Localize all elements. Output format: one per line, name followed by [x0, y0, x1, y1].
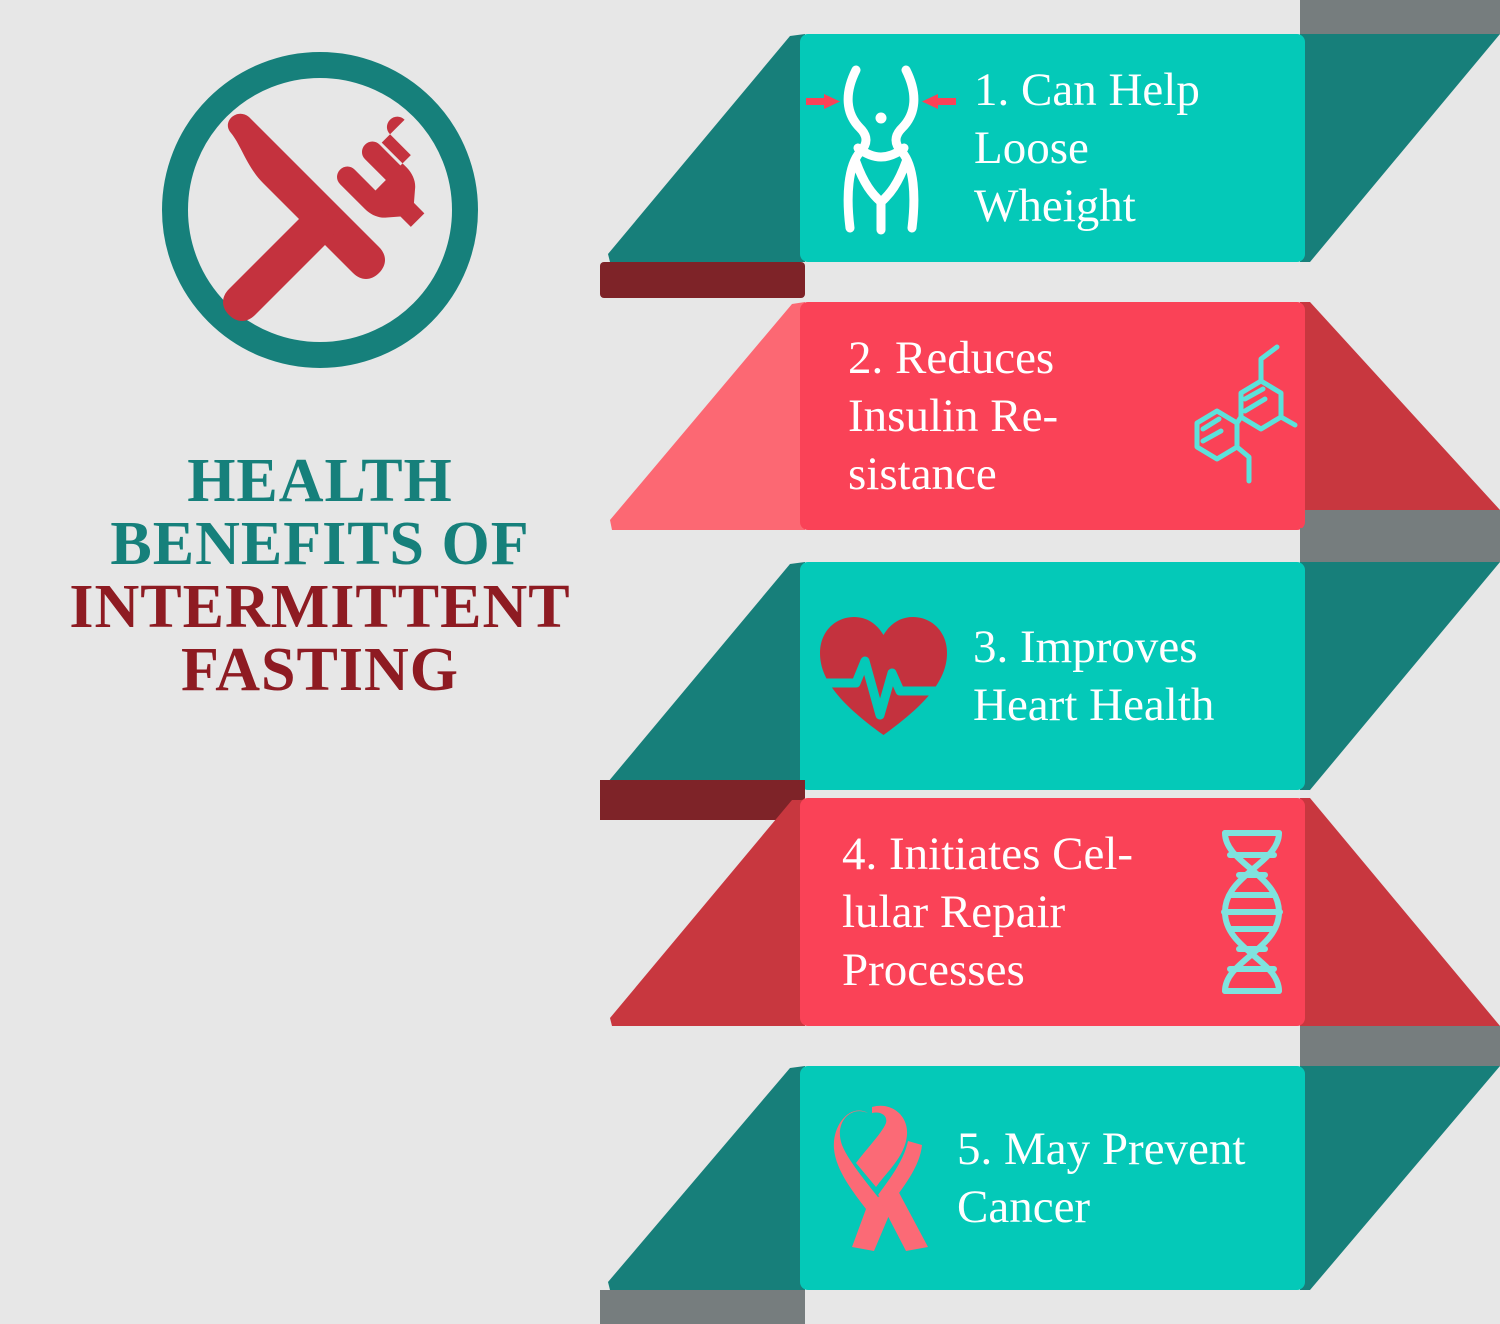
- banner-5[interactable]: 5. May Prevent Cancer: [0, 1040, 1500, 1324]
- gray-tab: [1300, 1040, 1500, 1066]
- banner-5-line-2: Cancer: [957, 1178, 1245, 1236]
- banner-3-content: 3. Improves Heart Health: [800, 562, 1305, 790]
- dna-helix-icon: [1207, 827, 1297, 997]
- banner-4[interactable]: 4. Initiates Cel- lular Repair Processes: [0, 780, 1500, 1080]
- right-wing: [1300, 1066, 1500, 1290]
- molecule-structure-icon: [1179, 341, 1299, 491]
- arrow-right-icon: [806, 94, 840, 109]
- banner-1-line-2: Loose: [974, 119, 1200, 177]
- banner-2-text: 2. Reduces Insulin Re- sistance: [848, 329, 1179, 503]
- left-wing: [610, 798, 805, 1026]
- banner-1-text: 1. Can Help Loose Wheight: [974, 61, 1200, 235]
- arrow-left-icon: [922, 94, 956, 109]
- shadow-tab: [600, 780, 805, 800]
- banner-1-line-1: 1. Can Help: [974, 61, 1200, 119]
- banner-3-line-1: 3. Improves: [973, 618, 1214, 676]
- awareness-ribbon-icon: [820, 1101, 945, 1256]
- infographic-canvas: HEALTH BENEFITS OF INTERMITTENT FASTING: [0, 0, 1500, 1324]
- left-wing: [608, 1066, 805, 1290]
- banner-4-line-2: lular Repair: [842, 883, 1207, 941]
- banner-2-line-1: 2. Reduces: [848, 329, 1179, 387]
- right-wing: [1300, 562, 1500, 790]
- banner-2-line-3: sistance: [848, 445, 1179, 503]
- banner-3-line-2: Heart Health: [973, 676, 1214, 734]
- banner-4-text: 4. Initiates Cel- lular Repair Processes: [842, 825, 1207, 999]
- gray-tab-bottom: [600, 1290, 805, 1324]
- banner-2[interactable]: 2. Reduces Insulin Re- sistance: [0, 262, 1500, 562]
- right-wing: [1300, 34, 1500, 262]
- left-wing: [608, 34, 805, 262]
- banner-1[interactable]: 1. Can Help Loose Wheight: [0, 0, 1500, 300]
- left-wing: [608, 562, 805, 790]
- banner-5-text: 5. May Prevent Cancer: [957, 1120, 1245, 1236]
- banner-3[interactable]: 3. Improves Heart Health: [0, 520, 1500, 820]
- banner-2-content: 2. Reduces Insulin Re- sistance: [800, 302, 1305, 530]
- slim-waist-body-icon: [806, 56, 956, 241]
- banner-5-content: 5. May Prevent Cancer: [800, 1066, 1305, 1290]
- banner-5-line-1: 5. May Prevent: [957, 1120, 1245, 1178]
- banner-4-content: 4. Initiates Cel- lular Repair Processes: [800, 798, 1305, 1026]
- banner-1-line-3: Wheight: [974, 177, 1200, 235]
- heart-with-heartbeat-icon: [816, 611, 951, 741]
- banner-3-text: 3. Improves Heart Health: [973, 618, 1214, 734]
- banner-4-line-1: 4. Initiates Cel-: [842, 825, 1207, 883]
- banner-4-line-3: Processes: [842, 941, 1207, 999]
- right-wing: [1300, 302, 1500, 510]
- gray-tab: [1300, 528, 1500, 562]
- left-wing: [610, 302, 805, 530]
- right-wing: [1300, 798, 1500, 1026]
- banner-1-content: 1. Can Help Loose Wheight: [800, 34, 1305, 262]
- banner-2-line-2: Insulin Re-: [848, 387, 1179, 445]
- gray-tab: [1300, 0, 1500, 34]
